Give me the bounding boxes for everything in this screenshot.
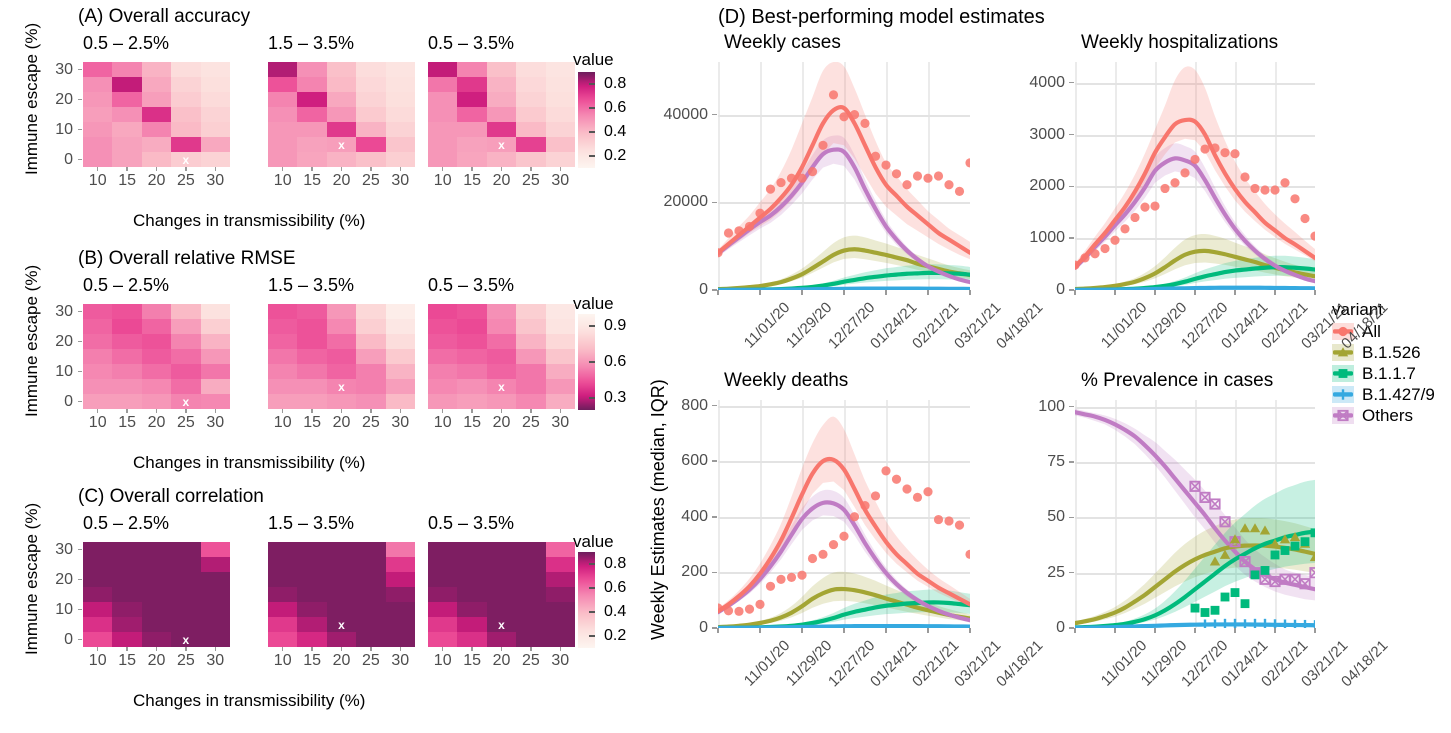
heatmap-cell [327, 349, 356, 364]
heatmap-cell [327, 77, 356, 92]
heatmap-xtick-mark [156, 167, 158, 171]
heatmap-grid: x [268, 542, 415, 647]
heatmap-ytick-mark [78, 99, 82, 101]
heatmap-cell [428, 379, 457, 394]
observed-point [734, 607, 743, 616]
heatmap-cell [171, 379, 200, 394]
heatmap-xtick: 10 [89, 414, 107, 432]
heatmap-xtick-mark [560, 167, 562, 171]
ts-ytick-mark [712, 460, 717, 462]
heatmap-cell [142, 122, 171, 137]
heatmap-xtick: 15 [303, 414, 321, 432]
ts-ytick-mark [712, 202, 717, 204]
heatmap-cell [201, 62, 230, 77]
observed-point [787, 174, 796, 183]
colorbar-tick-mark [589, 361, 595, 363]
ts-xtick-mark [927, 628, 929, 633]
observed-point [1200, 144, 1209, 153]
heatmap-cell [142, 349, 171, 364]
heatmap-cell [516, 62, 545, 77]
heatmap-xtick: 25 [522, 172, 540, 190]
heatmap-cell [142, 77, 171, 92]
heatmap-cell [516, 602, 545, 617]
heatmap-cell [327, 587, 356, 602]
heatmap-xtick: 15 [118, 172, 136, 190]
heatmap-cell [327, 602, 356, 617]
heatmap-cell [268, 349, 297, 364]
heatmap-cell [171, 304, 200, 319]
observed-point [871, 152, 880, 161]
heatmap-cell [201, 77, 230, 92]
facet-label: 1.5 – 3.5% [268, 275, 354, 296]
ts-ytick-mark [1069, 134, 1074, 136]
observed-point [1290, 194, 1299, 203]
variant-legend-swatch [1332, 386, 1354, 403]
ts-ytick-label: 20000 [664, 193, 709, 211]
colorbar-tick-label: 0.2 [604, 147, 626, 165]
heatmap-cell [171, 587, 200, 602]
heatmap-cell [356, 62, 385, 77]
heatmap-cell [268, 572, 297, 587]
panel-b-legend-title: value [573, 294, 614, 314]
heatmap-xtick-mark [282, 409, 284, 413]
heatmap-cell [112, 152, 141, 167]
heatmap-cell [516, 364, 545, 379]
heatmap-cell [83, 319, 112, 334]
heatmap-xtick: 20 [493, 414, 511, 432]
colorbar-tick-label: 0.6 [604, 579, 626, 597]
heatmap-ytick: 30 [55, 541, 73, 559]
observed-point [913, 493, 922, 502]
heatmap-cell [546, 394, 575, 409]
heatmap-cell [297, 542, 326, 557]
ts-ytick-mark [712, 572, 717, 574]
heatmap-cell [487, 364, 516, 379]
heatmap-cell [171, 617, 200, 632]
heatmap-xtick: 25 [362, 652, 380, 670]
variant-legend-label: Others [1362, 406, 1413, 426]
heatmap-cell [268, 632, 297, 647]
heatmap-xtick: 25 [362, 414, 380, 432]
observed-point [766, 185, 775, 194]
heatmap-grid: x [83, 62, 230, 167]
variant-legend-item[interactable]: B.1.427/9 [1332, 385, 1435, 404]
observed-point [797, 571, 806, 580]
observed-point [965, 158, 970, 167]
heatmap-xtick-mark [97, 167, 99, 171]
heatmap-cell [142, 334, 171, 349]
observed-point [860, 119, 869, 128]
heatmap-cell [386, 334, 415, 349]
ts-series-canvas [718, 62, 970, 290]
variant-legend-swatch [1332, 365, 1354, 382]
heatmap-cell [297, 107, 326, 122]
heatmap-cell [487, 122, 516, 137]
observed-point [892, 475, 901, 484]
heatmap-cell [386, 572, 415, 587]
facet-label: 0.5 – 2.5% [83, 513, 169, 534]
observed-marker-square [1261, 566, 1270, 575]
colorbar-tick-mark [589, 611, 595, 613]
heatmap-xtick: 10 [89, 652, 107, 670]
observed-point [955, 187, 964, 196]
heatmap-cell [386, 107, 415, 122]
heatmap-cell [142, 394, 171, 409]
observed-point [944, 180, 953, 189]
heatmap-cell [112, 602, 141, 617]
observed-point [734, 226, 743, 235]
heatmap-cell [201, 632, 230, 647]
heatmap-cell [297, 602, 326, 617]
observed-marker-square [1231, 588, 1240, 597]
heatmap-cell [516, 572, 545, 587]
ts-ytick-label: 3000 [1029, 126, 1065, 144]
variant-legend-swatch [1332, 407, 1354, 424]
heatmap-cell [546, 304, 575, 319]
facet-label: 0.5 – 3.5% [428, 33, 514, 54]
heatmap-cell [142, 137, 171, 152]
heatmap-xtick-mark [471, 167, 473, 171]
panel-a-legend-title: value [573, 50, 614, 70]
observed-point [724, 606, 733, 615]
heatmap-cell [83, 572, 112, 587]
heatmap-cell [327, 542, 356, 557]
heatmap-cell [487, 304, 516, 319]
heatmap-xtick-mark [126, 167, 128, 171]
observed-point [1180, 168, 1189, 177]
heatmap-cell [457, 92, 486, 107]
heatmap-cell [457, 349, 486, 364]
heatmap-cell [546, 92, 575, 107]
heatmap-cell [142, 364, 171, 379]
heatmap-xtick: 25 [177, 172, 195, 190]
ts-ytick-label: 0 [1056, 281, 1065, 299]
heatmap-cell [487, 557, 516, 572]
heatmap-cell [457, 137, 486, 152]
panel-d-title: (D) Best-performing model estimates [718, 6, 1045, 29]
heatmap-cell [516, 542, 545, 557]
heatmap-cell [356, 587, 385, 602]
ts-xtick-mark [927, 290, 929, 295]
heatmap-cell [516, 319, 545, 334]
variant-legend-item[interactable]: Others [1332, 406, 1435, 425]
heatmap-cell: x [487, 137, 516, 152]
observed-point [871, 491, 880, 500]
heatmap-xtick-mark [97, 647, 99, 651]
heatmap-cell [268, 617, 297, 632]
observed-point [1160, 184, 1169, 193]
observed-point [1250, 184, 1259, 193]
ts-panel-title: Weekly deaths [724, 370, 848, 392]
ts-ytick-label: 40000 [664, 106, 709, 124]
heatmap-cell [297, 632, 326, 647]
heatmap-cell [268, 319, 297, 334]
colorbar-tick-label: 0.4 [604, 603, 626, 621]
heatmap-cell [83, 587, 112, 602]
heatmap-cell [356, 349, 385, 364]
variant-legend-marker [1332, 365, 1354, 382]
heatmap-cell [297, 92, 326, 107]
heatmap-cell [386, 122, 415, 137]
heatmap-ytick: 30 [55, 303, 73, 321]
observed-point [829, 90, 838, 99]
observed-marker-square [1191, 604, 1200, 613]
heatmap-cell [457, 77, 486, 92]
heatmap-xtick-mark [530, 647, 532, 651]
heatmap-cell [297, 394, 326, 409]
heatmap-cell [428, 62, 457, 77]
ts-xtick-mark [1114, 628, 1116, 633]
heatmap-xtick-mark [400, 167, 402, 171]
heatmap-cell [428, 349, 457, 364]
heatmap-cell [171, 137, 200, 152]
heatmap-cell [327, 319, 356, 334]
heatmap-cell [83, 542, 112, 557]
heatmap-cell [327, 152, 356, 167]
best-model-marker: x [498, 618, 505, 630]
heatmap-ytick-mark [78, 159, 82, 161]
heatmap-cell [83, 379, 112, 394]
heatmap-xtick: 15 [463, 652, 481, 670]
heatmap-cell [83, 107, 112, 122]
heatmap-cell [457, 379, 486, 394]
observed-point [1130, 213, 1139, 222]
heatmap-grid: x [428, 542, 575, 647]
heatmap-cell [297, 557, 326, 572]
heatmap-cell [457, 334, 486, 349]
observed-marker-square [1221, 593, 1230, 602]
heatmap-ytick: 10 [55, 121, 73, 139]
heatmap-xtick: 10 [274, 172, 292, 190]
heatmap-grid: x [428, 304, 575, 409]
heatmap-cell [516, 587, 545, 602]
heatmap-cell [171, 334, 200, 349]
heatmap-ytick-mark [78, 401, 82, 403]
observed-marker-square [1201, 608, 1210, 617]
heatmap-xtick-mark [156, 409, 158, 413]
ts-ytick-mark [712, 516, 717, 518]
heatmap-cell [142, 107, 171, 122]
heatmap-cell [297, 617, 326, 632]
ts-xtick-mark [1194, 290, 1196, 295]
observed-point [923, 487, 932, 496]
heatmap-cell [516, 334, 545, 349]
heatmap-cell [171, 122, 200, 137]
facet-label: 0.5 – 3.5% [428, 275, 514, 296]
best-model-marker: x [498, 380, 505, 392]
ts-ytick-label: 600 [681, 452, 708, 470]
facet-label: 0.5 – 2.5% [83, 33, 169, 54]
observed-point [755, 209, 764, 218]
heatmap-cell [268, 542, 297, 557]
heatmap-cell [327, 304, 356, 319]
heatmap-cell [327, 334, 356, 349]
heatmap-cell [457, 304, 486, 319]
heatmap-xtick: 10 [274, 652, 292, 670]
heatmap-cell [171, 364, 200, 379]
ts-ytick-mark [1069, 461, 1074, 463]
heatmap-cell [297, 349, 326, 364]
heatmap-xtick-mark [471, 409, 473, 413]
heatmap-grid: x [268, 62, 415, 167]
heatmap-cell [428, 632, 457, 647]
heatmap-cell [386, 542, 415, 557]
colorbar-tick-label: 0.8 [604, 555, 626, 573]
heatmap-cell [457, 557, 486, 572]
heatmap-cell [142, 62, 171, 77]
ts-xtick-mark [759, 628, 761, 633]
heatmap-cell [546, 587, 575, 602]
heatmap-cell [428, 77, 457, 92]
heatmap-xtick: 25 [522, 652, 540, 670]
heatmap-cell [356, 557, 385, 572]
observed-point [745, 222, 754, 231]
heatmap-xtick-mark [215, 167, 217, 171]
heatmap-cell [516, 617, 545, 632]
facet-label: 1.5 – 3.5% [268, 33, 354, 54]
ts-ytick-label: 0 [699, 281, 708, 299]
variant-legend-label: B.1.526 [1362, 343, 1421, 363]
heatmap-cell [201, 152, 230, 167]
heatmap-ytick-mark [78, 69, 82, 71]
heatmap-cell [268, 364, 297, 379]
heatmap-cell [386, 77, 415, 92]
panel-c-xlabel: Changes in transmissibility (%) [133, 691, 365, 711]
heatmap-cell [83, 632, 112, 647]
observed-point [745, 604, 754, 613]
heatmap-cell [386, 364, 415, 379]
heatmap-xtick: 10 [89, 172, 107, 190]
heatmap-xtick: 20 [333, 172, 351, 190]
ts-ytick-mark [712, 114, 717, 116]
heatmap-cell [142, 319, 171, 334]
heatmap-cell [83, 617, 112, 632]
heatmap-cell [457, 617, 486, 632]
heatmap-cell [428, 587, 457, 602]
heatmap-cell: x [171, 152, 200, 167]
ts-panel-title: Weekly cases [724, 32, 841, 54]
heatmap-cell [386, 587, 415, 602]
ts-xtick-mark [1234, 628, 1236, 633]
observed-point [1110, 236, 1119, 245]
heatmap-cell [428, 617, 457, 632]
heatmap-xtick-mark [400, 647, 402, 651]
heatmap-cell [112, 122, 141, 137]
heatmap-cell [516, 379, 545, 394]
heatmap-cell [356, 137, 385, 152]
heatmap-cell [201, 587, 230, 602]
heatmap-cell [268, 122, 297, 137]
heatmap-cell [487, 334, 516, 349]
best-model-marker: x [183, 395, 190, 407]
heatmap-cell [201, 542, 230, 557]
observed-marker-square [1301, 537, 1310, 546]
ts-xtick-mark [1314, 290, 1316, 295]
ts-series-canvas [1075, 400, 1315, 628]
heatmap-xtick-mark [400, 409, 402, 413]
heatmap-cell [327, 572, 356, 587]
panel-b-ylabel: Immune escape (%) [22, 265, 42, 417]
colorbar-tick-mark [589, 397, 595, 399]
observed-point [808, 554, 817, 563]
heatmap-cell [83, 62, 112, 77]
heatmap-cell [83, 394, 112, 409]
heatmap-xtick-mark [311, 409, 313, 413]
heatmap-cell [386, 379, 415, 394]
ts-xtick-mark [1274, 628, 1276, 633]
heatmap-cell: x [327, 617, 356, 632]
heatmap-cell [487, 319, 516, 334]
heatmap-cell [201, 92, 230, 107]
heatmap-cell [457, 572, 486, 587]
heatmap-xtick-mark [126, 409, 128, 413]
heatmap-cell [457, 319, 486, 334]
best-model-marker: x [183, 153, 190, 165]
panel-b-title: (B) Overall relative RMSE [78, 248, 296, 270]
heatmap-xtick: 10 [434, 414, 452, 432]
heatmap-cell [112, 542, 141, 557]
facet-label: 0.5 – 2.5% [83, 275, 169, 296]
heatmap-cell [201, 557, 230, 572]
heatmap-cell: x [171, 632, 200, 647]
heatmap-cell [356, 152, 385, 167]
heatmap-cell [201, 602, 230, 617]
ts-xtick-mark [1194, 628, 1196, 633]
heatmap-xtick-mark [442, 167, 444, 171]
heatmap-cell [327, 632, 356, 647]
variant-legend-item[interactable]: B.1.1.7 [1332, 364, 1435, 383]
heatmap-cell [356, 122, 385, 137]
heatmap-xtick: 20 [493, 652, 511, 670]
colorbar-tick-mark [589, 83, 595, 85]
facet-label: 1.5 – 3.5% [268, 513, 354, 534]
panel-c-ylabel: Immune escape (%) [22, 503, 42, 655]
ts-plot-area [1075, 62, 1315, 290]
heatmap-xtick-mark [215, 409, 217, 413]
heatmap-cell [428, 557, 457, 572]
heatmap-cell [268, 304, 297, 319]
ts-xtick-mark [717, 290, 719, 295]
heatmap-cell [356, 319, 385, 334]
variant-legend-label: B.1.1.7 [1362, 364, 1416, 384]
colorbar-tick-mark [589, 587, 595, 589]
heatmap-cell [386, 557, 415, 572]
observed-point [902, 484, 911, 493]
heatmap-xtick-mark [442, 409, 444, 413]
heatmap-cell [356, 632, 385, 647]
heatmap-cell [112, 394, 141, 409]
observed-marker-plus [1240, 619, 1250, 628]
heatmap-cell [546, 122, 575, 137]
observed-point [808, 167, 817, 176]
colorbar-tick-label: 0.6 [604, 353, 626, 371]
heatmap-xtick: 25 [522, 414, 540, 432]
ts-xtick-mark [1114, 290, 1116, 295]
heatmap-cell [112, 349, 141, 364]
heatmap-cell [112, 62, 141, 77]
heatmap-xtick-mark [185, 167, 187, 171]
colorbar-tick-label: 0.3 [604, 389, 626, 407]
heatmap-cell [171, 107, 200, 122]
heatmap-ytick-mark [78, 639, 82, 641]
heatmap-cell [112, 77, 141, 92]
heatmap-cell [356, 77, 385, 92]
heatmap-cell [428, 542, 457, 557]
heatmap-cell: x [327, 137, 356, 152]
observed-point [755, 600, 764, 609]
heatmap-cell [487, 107, 516, 122]
colorbar-tick-mark [589, 635, 595, 637]
